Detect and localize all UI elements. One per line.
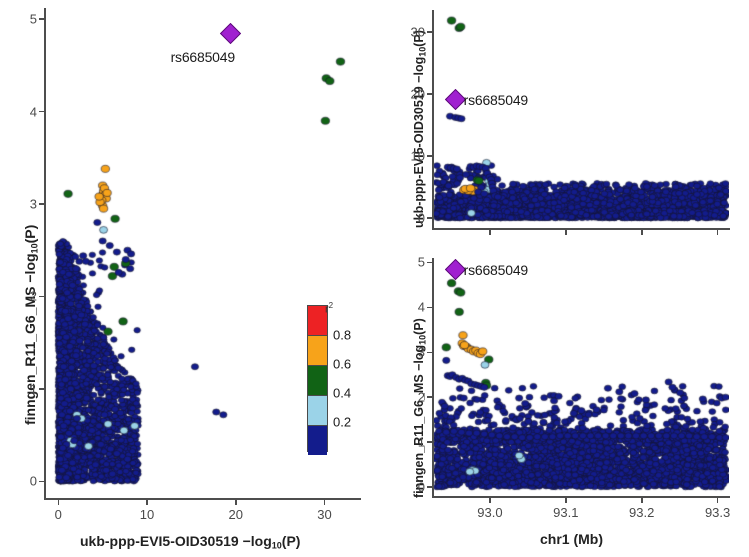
y-axis-line-manhattan-bottom-right bbox=[432, 258, 434, 497]
y-tick-label-scatter-left-0: 0 bbox=[15, 474, 37, 489]
x-tick-manhattan-top-right-3 bbox=[717, 230, 719, 235]
y-tick-manhattan-bottom-right-1 bbox=[427, 441, 432, 443]
r2-legend-tick-0: 0.8 bbox=[333, 328, 351, 343]
r2-legend-bin-2 bbox=[308, 366, 327, 396]
r2-legend-title: r2 bbox=[325, 301, 333, 316]
manhattan-plot-area-bottom-right bbox=[433, 258, 729, 496]
y-tick-label-manhattan-top-right-0: 0 bbox=[403, 211, 425, 226]
x-tick-label-manhattan-bottom-right-1: 93.1 bbox=[553, 505, 578, 520]
y-tick-manhattan-bottom-right-3 bbox=[427, 352, 432, 354]
x-tick-manhattan-bottom-right-1 bbox=[565, 498, 567, 503]
x-tick-scatter-left-0 bbox=[58, 500, 60, 505]
y-tick-scatter-left-4 bbox=[39, 111, 44, 113]
x-axis-title-text-bottom-right: chr1 (Mb) bbox=[540, 531, 603, 547]
x-tick-manhattan-top-right-0 bbox=[489, 230, 491, 235]
y-tick-manhattan-top-right-2 bbox=[427, 93, 432, 95]
y-tick-label-manhattan-bottom-right-4: 4 bbox=[403, 300, 425, 315]
x-tick-scatter-left-3 bbox=[324, 500, 326, 505]
x-tick-label-manhattan-bottom-right-2: 93.2 bbox=[629, 505, 654, 520]
x-axis-line-manhattan-bottom-right bbox=[432, 496, 730, 498]
y-tick-label-scatter-left-3: 3 bbox=[15, 197, 37, 212]
r2-legend-tick-3: 0.2 bbox=[333, 415, 351, 430]
y-tick-label-scatter-left-1: 1 bbox=[15, 381, 37, 396]
y-tick-label-manhattan-bottom-right-0: 0 bbox=[403, 480, 425, 495]
x-axis-line-manhattan-top-right bbox=[432, 228, 730, 230]
y-tick-scatter-left-5 bbox=[39, 18, 44, 20]
y-tick-label-manhattan-bottom-right-5: 5 bbox=[403, 255, 425, 270]
x-axis-title-bottom-right: chr1 (Mb) bbox=[540, 531, 603, 547]
y-tick-manhattan-top-right-3 bbox=[427, 31, 432, 33]
y-tick-label-manhattan-top-right-2: 20 bbox=[403, 86, 425, 101]
x-tick-label-manhattan-bottom-right-3: 93.3 bbox=[705, 505, 730, 520]
y-tick-manhattan-bottom-right-5 bbox=[427, 262, 432, 264]
r2-legend-tick-1: 0.6 bbox=[333, 357, 351, 372]
x-tick-label-manhattan-bottom-right-0: 93.0 bbox=[477, 505, 502, 520]
y-tick-label-manhattan-bottom-right-1: 1 bbox=[403, 435, 425, 450]
y-tick-manhattan-bottom-right-0 bbox=[427, 486, 432, 488]
y-tick-label-manhattan-bottom-right-3: 3 bbox=[403, 345, 425, 360]
y-tick-manhattan-bottom-right-2 bbox=[427, 396, 432, 398]
x-axis-title-text-left: ukb-ppp-EVI5-OID30519 −log10(P) bbox=[80, 533, 300, 549]
x-tick-scatter-left-1 bbox=[146, 500, 148, 505]
y-tick-scatter-left-0 bbox=[39, 481, 44, 483]
y-tick-label-scatter-left-2: 2 bbox=[15, 289, 37, 304]
x-axis-title-left: ukb-ppp-EVI5-OID30519 −log10(P) bbox=[80, 533, 300, 550]
y-tick-scatter-left-1 bbox=[39, 388, 44, 390]
x-tick-label-scatter-left-3: 30 bbox=[317, 507, 331, 522]
y-tick-label-manhattan-top-right-3: 30 bbox=[403, 24, 425, 39]
r2-legend-bin-3 bbox=[308, 396, 327, 426]
lead-snp-label-left: rs6685049 bbox=[171, 49, 235, 65]
y-tick-label-scatter-left-4: 4 bbox=[15, 104, 37, 119]
x-tick-scatter-left-2 bbox=[235, 500, 237, 505]
lead-snp-label-bottom-right: rs6685049 bbox=[464, 262, 528, 278]
y-tick-scatter-left-2 bbox=[39, 296, 44, 298]
r2-legend-tick-2: 0.4 bbox=[333, 386, 351, 401]
y-tick-label-scatter-left-5: 5 bbox=[15, 12, 37, 27]
x-tick-manhattan-bottom-right-3 bbox=[717, 498, 719, 503]
y-tick-manhattan-top-right-0 bbox=[427, 217, 432, 219]
y-tick-label-manhattan-bottom-right-2: 2 bbox=[403, 390, 425, 405]
x-tick-manhattan-top-right-2 bbox=[641, 230, 643, 235]
x-axis-line-scatter-left bbox=[44, 498, 361, 500]
lead-snp-label-top-right: rs6685049 bbox=[464, 92, 528, 108]
r2-legend-bin-1 bbox=[308, 336, 327, 366]
y-tick-manhattan-top-right-1 bbox=[427, 155, 432, 157]
y-axis-line-manhattan-top-right bbox=[432, 10, 434, 229]
x-tick-manhattan-bottom-right-2 bbox=[641, 498, 643, 503]
y-tick-scatter-left-3 bbox=[39, 203, 44, 205]
y-tick-manhattan-bottom-right-4 bbox=[427, 307, 432, 309]
y-tick-label-manhattan-top-right-1: 10 bbox=[403, 148, 425, 163]
x-tick-label-scatter-left-2: 20 bbox=[229, 507, 243, 522]
manhattan-points-top-right bbox=[433, 10, 729, 228]
x-tick-manhattan-bottom-right-0 bbox=[489, 498, 491, 503]
y-axis-line-scatter-left bbox=[44, 8, 46, 499]
x-tick-label-scatter-left-0: 0 bbox=[55, 507, 62, 522]
manhattan-points-bottom-right bbox=[433, 258, 729, 496]
y-axis-title-top-right: ukb-ppp-EVI5-OID30519 −log10(P) bbox=[412, 30, 427, 228]
r2-legend-colorbar bbox=[307, 305, 328, 452]
manhattan-plot-area-top-right bbox=[433, 10, 729, 228]
x-tick-label-scatter-left-1: 10 bbox=[140, 507, 154, 522]
y-axis-title-text-top-right: ukb-ppp-EVI5-OID30519 −log10(P) bbox=[412, 30, 426, 228]
x-tick-manhattan-top-right-1 bbox=[565, 230, 567, 235]
r2-legend-bin-4 bbox=[308, 426, 327, 455]
